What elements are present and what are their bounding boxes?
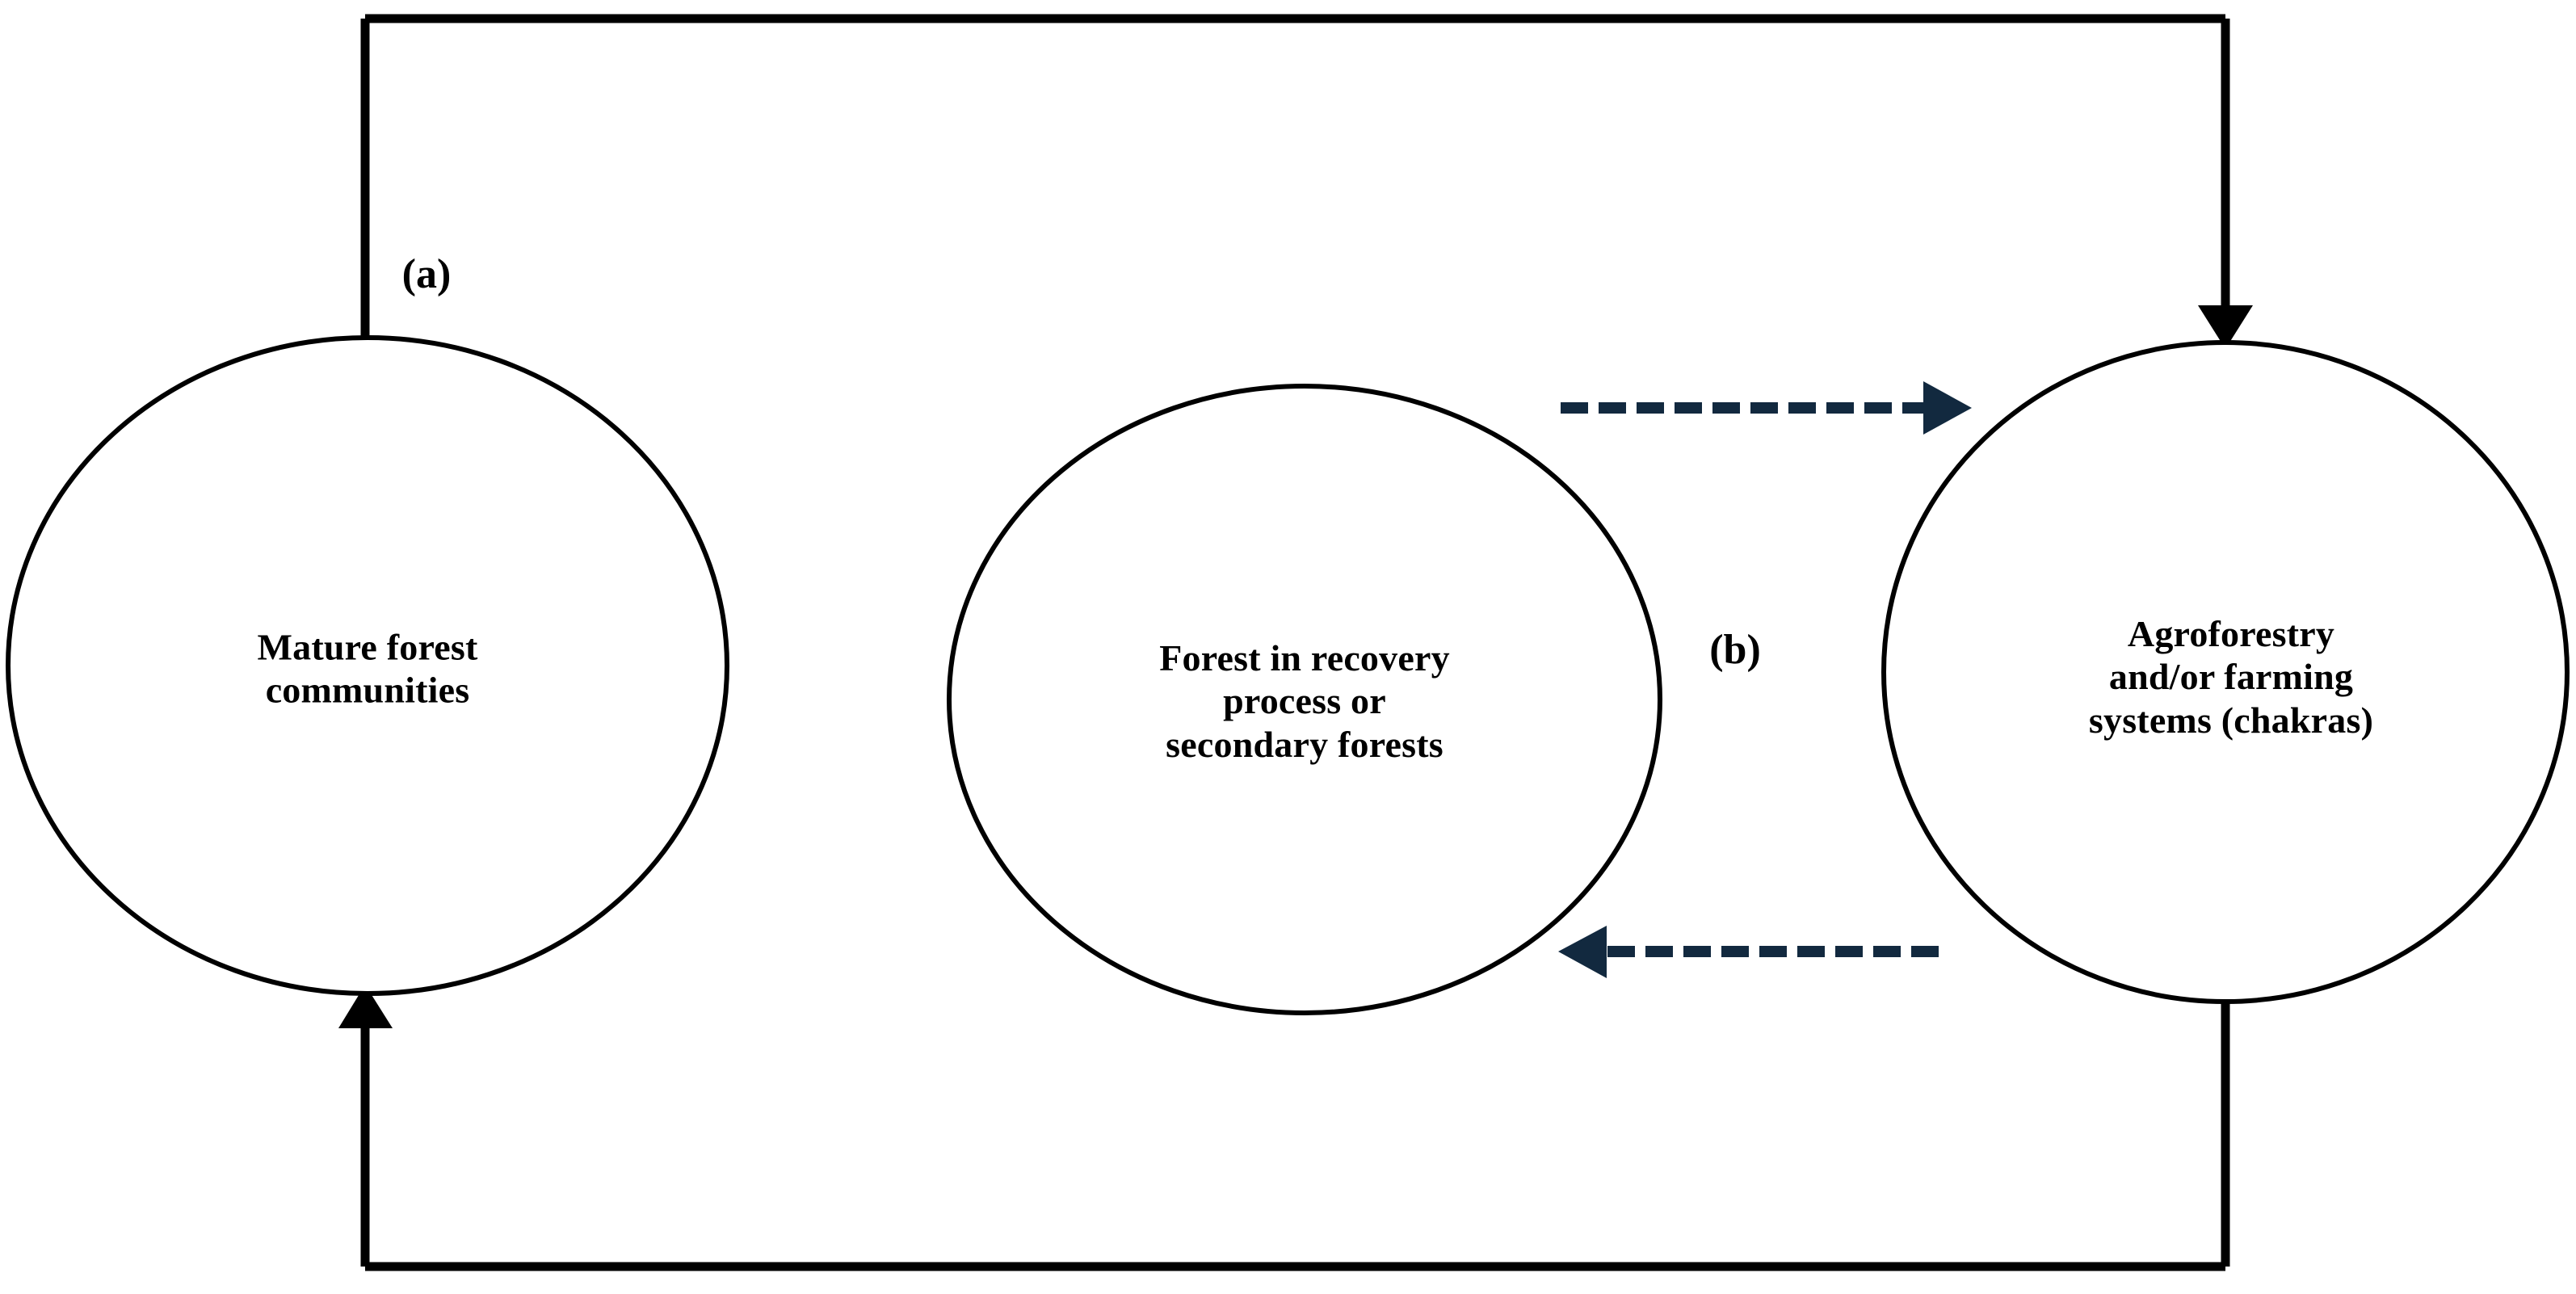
node-agroforestry-ellipse[interactable] xyxy=(1884,342,2567,1002)
flow-b-label: (b) xyxy=(1709,629,1761,671)
flow-b-arrowhead-right-icon xyxy=(1923,381,1972,435)
diagram-canvas xyxy=(0,0,2576,1294)
node-secondary-forest-ellipse[interactable] xyxy=(949,386,1660,1013)
node-mature-forest-ellipse[interactable] xyxy=(8,338,727,994)
cycle-diagram: Mature forest communities Forest in reco… xyxy=(0,0,2576,1294)
flow-b-arrowhead-left-icon xyxy=(1558,926,1607,978)
flow-a-label: (a) xyxy=(402,254,452,296)
